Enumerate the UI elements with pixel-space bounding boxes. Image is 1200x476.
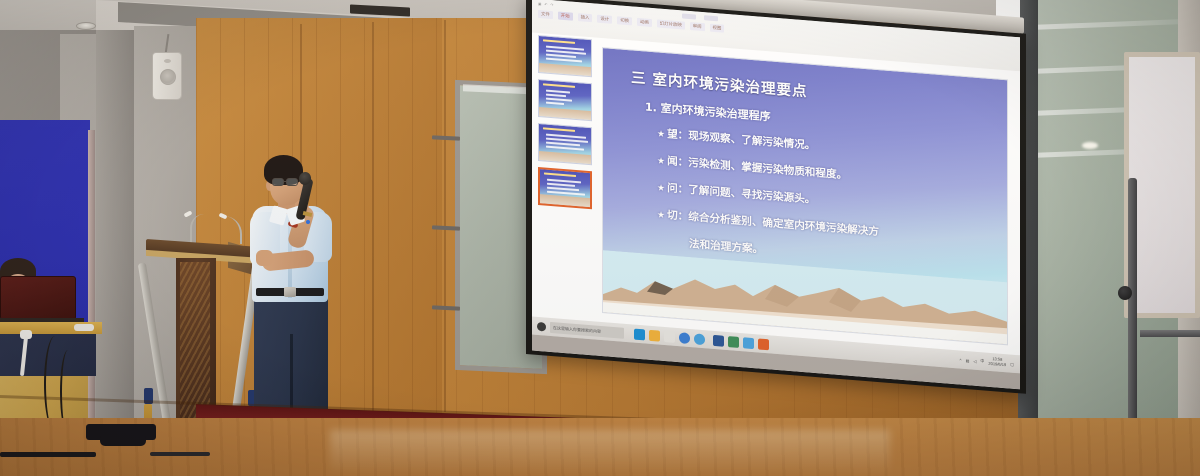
whiteboard-tray [1140,330,1200,337]
slide-thumbnail[interactable] [538,35,592,77]
wall-column [96,30,134,442]
undo-icon[interactable]: ↶ [544,2,547,6]
slide-bullet-4: ★切：综合分析鉴别、确定室内环境污染解决方 [657,206,879,239]
backdrop-edge [88,130,95,420]
eyeglasses-icon [272,178,284,186]
taskbar-search-input[interactable]: 在这里输入你要搜索的内容 [550,321,624,338]
ribbon-tab-file[interactable]: 文件 [538,10,553,19]
ribbon-tab-insert[interactable]: 插入 [578,13,593,22]
clock-date: 2019/6/19 [988,361,1006,367]
quick-access-toolbar[interactable]: ▣ ↶ ↷ [538,2,553,7]
powerpoint-icon[interactable] [758,338,769,350]
lectern-gooseneck-mic-left [190,214,204,244]
thumb-title-bar [544,172,576,177]
excel-icon[interactable] [728,336,739,348]
file-explorer-icon[interactable] [649,329,660,341]
ribbon-titlebar-chip [682,13,696,19]
projection-screen: ▣ ↶ ↷ 文件 开始 插入 设计 切换 动画 幻灯片放映 审阅 视图 [526,0,1026,414]
edge-icon[interactable] [634,328,645,340]
ribbon-tab-review[interactable]: 审阅 [690,22,705,31]
slide-subtitle: 1. 室内环境污染治理程序 [645,98,771,124]
action-center-icon[interactable]: ▢ [1010,361,1014,366]
star-icon: ★ [657,156,665,167]
slide-title: 三 室内环境污染治理要点 [631,66,808,101]
thumb-title-bar [543,83,575,88]
ribbon-titlebar-chip [704,15,718,21]
thumb-line [547,183,575,187]
presenter-belt-buckle [284,287,296,297]
ribbon-tab-slideshow[interactable]: 幻灯片放映 [657,19,685,29]
save-icon[interactable]: ▣ [538,2,541,6]
glass-reflection [1036,19,1178,29]
whiteboard-adjust-knob[interactable] [1118,286,1132,300]
slide-bullet-1: ★望：现场观察、了解污染情况。 [657,125,815,153]
wood-seam [444,20,446,412]
thumb-line [546,98,572,102]
thumb-line [546,94,566,97]
wechat-icon[interactable] [743,337,754,349]
speaker-tweeter-icon [164,59,171,63]
chat-icon[interactable] [694,333,705,345]
presenter-hand-left [256,250,273,266]
start-button-icon[interactable] [537,321,546,331]
thumb-mountain-graphic [539,107,592,120]
system-tray[interactable]: ^ ▤ ◁ 中 13:58 2019/6/19 ▢ [960,355,1014,369]
slide-bullet-continuation: 法和治理方案。 [689,236,763,257]
browser-icon[interactable] [679,332,690,344]
thumb-mountain-graphic [539,151,592,164]
slide-bullet-2: ★闻：污染检测、掌握污染物质和程度。 [657,152,847,182]
show-hidden-icons-icon[interactable]: ^ [960,357,962,362]
slide-thumbnail[interactable] [538,79,592,121]
ribbon-tab-view[interactable]: 视图 [710,24,725,33]
thumb-title-bar [543,127,575,132]
redo-icon[interactable]: ↷ [550,3,553,7]
floor-equipment [100,434,146,446]
ribbon-tab-strip[interactable]: 文件 开始 插入 设计 切换 动画 幻灯片放映 审阅 视图 [538,10,724,33]
thumb-title-bar [543,39,575,44]
thumb-line [546,146,584,151]
word-icon[interactable] [713,334,724,346]
speaker-cone-icon [160,69,176,85]
downlight-icon [76,22,96,30]
network-icon[interactable]: ▤ [966,357,970,362]
slide-canvas[interactable]: 三 室内环境污染治理要点 1. 室内环境污染治理程序 ★望：现场观察、了解污染情… [602,47,1008,345]
floor-reflection [330,430,890,476]
ribbon-tab-home[interactable]: 开始 [558,12,573,21]
taskbar-clock[interactable]: 13:58 2019/6/19 [988,357,1006,368]
eyeglasses-icon [286,178,298,186]
slide-thumbnail-active[interactable] [538,167,592,209]
eyeglasses-bridge [284,181,287,182]
volume-icon[interactable]: ◁ [973,358,976,363]
ribbon-tab-transitions[interactable]: 切换 [617,16,632,25]
slide-thumbnail-pane[interactable] [536,33,594,322]
store-icon[interactable] [664,330,675,342]
thumb-line [546,90,570,94]
slide-bullet-3: ★问：了解问题、寻找污染源头。 [657,179,815,207]
ime-icon[interactable]: 中 [980,358,984,364]
thumb-line [546,58,582,62]
glass-specular-highlight [1082,142,1098,149]
floor-cable [150,452,210,456]
screen-surface: ▣ ↶ ↷ 文件 开始 插入 设计 切换 动画 幻灯片放映 审阅 视图 [532,0,1020,389]
wood-seam [372,22,374,422]
microphone-led-icon [306,220,310,224]
star-icon: ★ [657,183,665,194]
thumb-line [546,102,564,105]
lecture-hall-scene: ▣ ↶ ↷ 文件 开始 插入 设计 切换 动画 幻灯片放映 审阅 视图 [0,0,1200,476]
wall-speaker [152,52,182,100]
floor-cable [0,452,96,457]
star-icon: ★ [657,129,665,140]
slide-thumbnail[interactable] [538,123,592,165]
thumb-mountain-graphic [540,194,592,207]
ribbon-tab-animations[interactable]: 动画 [637,18,652,27]
ribbon-tab-design[interactable]: 设计 [597,15,612,24]
star-icon: ★ [657,210,665,221]
mouse-icon [74,324,94,331]
thumb-mountain-graphic [539,63,592,76]
laptop-lid [0,276,76,320]
powerpoint-workspace: 三 室内环境污染治理要点 1. 室内环境污染治理程序 ★望：现场观察、了解污染情… [532,32,1020,355]
